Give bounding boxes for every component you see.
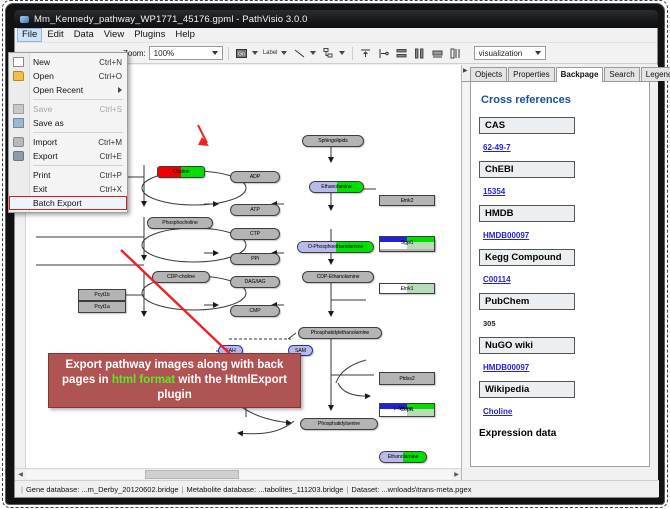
xref-value-kegg-compound[interactable]: C00114 [483,275,511,284]
file-menu-label: Batch Export [33,198,122,208]
title-bar[interactable]: Mm_Kennedy_pathway_WP1771_45176.gpml - P… [14,10,658,28]
tabstrip-scroll-icon[interactable]: ▶ [463,67,468,74]
metabolite-node-cmp[interactable]: CMP [230,305,280,317]
callout-text-after: with the HtmlExport plugin [157,374,287,401]
file-menu-item-batch-export[interactable]: Batch Export [9,196,127,210]
xref-value-row: 15354 [479,181,641,205]
metabolite-node-phosphatidylserine[interactable]: Phosphatidylserine [300,418,378,430]
file-menu-label: Print [33,170,100,180]
status-dataset: Dataset: ...wnloads\trans-meta.pgex [351,485,471,494]
status-gene-database: Gene database: ...m_Derby_20120602.bridg… [26,485,179,494]
node-label: DAG/IAG [245,279,266,285]
file-menu-dropdown[interactable]: NewCtrl+NOpenCtrl+OOpen RecentSaveCtrl+S… [8,52,128,213]
file-menu-accelerator: Ctrl+S [100,105,122,114]
gene-node-etnk1[interactable]: Etnk1 [379,283,435,294]
file-menu-item-save-as[interactable]: Save as [9,116,127,130]
cross-references-title: Cross references [481,94,641,106]
node-label: Ethanolamine [388,454,419,460]
callout-text-highlight: html format [112,374,175,386]
node-label: Etnk2 [401,198,414,204]
node-label: Phosphatidylserine [318,421,360,427]
status-sep-1: | [182,485,184,494]
file-menu-label: Open Recent [33,85,118,95]
xref-value-row: 305 [479,313,641,337]
metabolite-node-o-phosphoethanolamine[interactable]: O-Phosphoethanolamine [297,241,374,253]
xref-value-pubchem: 305 [483,319,496,328]
status-metabolite-database: Metabolite database: ...tabolites_111203… [187,485,344,494]
metabolite-node-choline[interactable]: Choline [157,166,205,178]
file-menu-item-export[interactable]: ExportCtrl+E [9,149,127,163]
file-menu-label: Open [33,71,99,81]
tab-search[interactable]: Search [604,67,639,81]
file-menu-label: Exit [33,184,100,194]
datanode-tool-icon[interactable]: Gn [234,46,249,61]
file-menu-item-open[interactable]: OpenCtrl+O [9,69,127,83]
xref-db-pubchem: PubChem [479,293,575,310]
metabolite-node-dag-iag[interactable]: DAG/IAG [230,276,280,288]
node-label: O-Phosphoethanolamine [308,244,363,250]
common-width-icon[interactable] [430,46,445,61]
metabolite-node-phosphocholine[interactable]: Phosphocholine [147,217,213,229]
xref-db-nugo-wiki: NuGO wiki [479,337,575,354]
cross-reference-list: CAS62-49-7ChEBI15354HMDBHMDB00097Kegg Co… [479,117,641,425]
side-panel-scrollbar[interactable] [463,82,470,467]
common-height-icon[interactable] [448,46,463,61]
interaction-tool-icon[interactable] [321,46,336,61]
gene-node-etnk2[interactable]: Etnk2 [379,195,435,206]
side-panel: ▶ Objects Properties Backpage Search Leg… [462,65,658,480]
xref-db-chebi: ChEBI [479,161,575,178]
file-menu-accelerator: Ctrl+X [100,185,122,194]
xref-db-cas: CAS [479,117,575,134]
stack-horizontal-icon[interactable] [412,46,427,61]
tab-objects[interactable]: Objects [470,67,507,81]
svg-text:Gn: Gn [238,51,245,57]
file-menu-item-exit[interactable]: ExitCtrl+X [9,182,127,196]
file-menu-item-open-recent[interactable]: Open Recent [9,83,127,97]
node-label: Choline [173,169,190,175]
node-label: Ptdss2 [399,376,414,382]
file-menu-label: Save as [33,118,122,128]
node-label: CTP [250,231,260,237]
scroll-right-icon[interactable]: ▶ [451,469,462,480]
xref-value-nugo-wiki[interactable]: HMDB00097 [483,363,529,372]
status-sep-0: | [21,485,23,494]
align-top-icon[interactable] [358,46,373,61]
file-menu-label: Import [33,137,98,147]
node-label: CDP-Ethanolamine [317,274,360,280]
node-label: Pcyt1a [94,304,109,310]
visualization-value: visualization [479,49,529,58]
expression-data-title: Expression data [479,428,641,439]
file-menu-item-import[interactable]: ImportCtrl+M [9,135,127,149]
chevron-down-icon [212,51,218,55]
tab-backpage[interactable]: Backpage [556,67,604,82]
metabolite-node-ppi[interactable]: PPi [230,253,280,265]
node-label: Sgpl1 [401,240,414,246]
menu-bar: File Edit Data View Plugins Help [15,28,657,43]
import-icon [13,137,24,147]
file-menu-accelerator: Ctrl+E [100,152,122,161]
zoom-value: 100% [154,49,206,58]
xref-db-kegg-compound: Kegg Compound [479,249,575,266]
xref-db-hmdb: HMDB [479,205,575,222]
file-menu-separator [33,132,123,133]
file-menu-item-save: SaveCtrl+S [9,102,127,116]
datanode-dropdown-icon[interactable] [252,51,258,55]
xref-value-row: HMDB00097 [479,357,641,381]
node-label: CDP-choline [167,274,195,280]
annotation-callout: Export pathway images along with back pa… [48,353,301,408]
file-menu-label: Export [33,151,100,161]
zoom-combobox[interactable]: 100% [149,46,223,60]
export-icon [13,151,24,161]
file-menu-accelerator: Ctrl+N [99,58,122,67]
side-panel-tabstrip: ▶ Objects Properties Backpage Search Leg… [462,65,658,82]
toolbar-separator [228,47,229,60]
canvas-horizontal-scrollbar[interactable]: ◀ ▶ [15,468,462,480]
file-menu-accelerator: Ctrl+P [100,171,122,180]
metabolite-node-cdp-ethanolamine[interactable]: CDP-Ethanolamine [302,271,374,283]
file-menu-item-new[interactable]: NewCtrl+N [9,55,127,69]
status-bar: | Gene database: ...m_Derby_20120602.bri… [15,480,659,497]
metabolite-node-phosphatidylethanolamine[interactable]: Phosphatidylethanolamine [298,327,382,339]
node-label: ADP [250,174,260,180]
menu-edit[interactable]: Edit [42,28,68,42]
backpage-content: Cross references CAS62-49-7ChEBI15354HMD… [470,82,650,467]
file-menu-separator [33,99,123,100]
xref-value-row: Choline [479,401,641,425]
tab-properties[interactable]: Properties [508,67,554,81]
xref-value-cas[interactable]: 62-49-7 [483,143,511,152]
line-dropdown-icon[interactable] [310,51,316,55]
save-as-icon [13,118,24,128]
file-menu-label: Save [33,104,100,114]
metabolite-node-ethanolamine[interactable]: Ethanolamine [309,181,364,193]
scroll-left-icon[interactable]: ◀ [15,469,26,480]
status-sep-2: | [346,485,348,494]
node-label: CMP [249,308,260,314]
metabolite-node-cdp-choline[interactable]: CDP-choline [152,271,210,283]
screenshot-root: Mm_Kennedy_pathway_WP1771_45176.gpml - P… [0,0,670,509]
node-label: Cept1 [400,407,413,413]
node-label: Etnk1 [401,286,414,292]
node-label: Phosphatidylethanolamine [311,330,369,336]
xref-value-row: 62-49-7 [479,137,641,161]
metabolite-node-ethanolamine[interactable]: Ethanolamine [379,451,427,463]
node-label: Phosphocholine [162,220,198,226]
metabolite-node-atp[interactable]: ATP [230,204,280,216]
menu-view[interactable]: View [99,28,129,42]
tab-legend[interactable]: Legend [641,67,670,81]
callout-text: Export pathway images along with back pa… [49,358,300,403]
node-label: PPi [251,256,259,262]
node-label: ATP [250,207,259,213]
file-menu-separator [33,165,123,166]
xref-value-row: C00114 [479,269,641,293]
node-label: Ethanolamine [321,184,352,190]
xref-value-wikipedia[interactable]: Choline [483,407,512,416]
scroll-thumb[interactable] [145,470,239,479]
label-dropdown-icon[interactable] [281,51,287,55]
save-disk-icon [13,104,24,114]
gene-node-pcyt1b[interactable]: Pcyt1b [78,289,126,301]
pathvisio-app-icon [19,14,30,25]
file-menu-accelerator: Ctrl+M [98,138,122,147]
xref-value-hmdb[interactable]: HMDB00097 [483,231,529,240]
metabolite-node-ctp[interactable]: CTP [230,228,280,240]
file-menu-accelerator: Ctrl+O [99,72,122,81]
xref-value-chebi[interactable]: 15354 [483,187,505,196]
line-tool-icon[interactable] [292,46,307,61]
metabolite-node-sphingolipids[interactable]: Sphingolipids [302,135,364,147]
toolbar-separator-2 [352,47,353,60]
open-folder-icon [13,71,24,81]
xref-db-wikipedia: Wikipedia [479,381,575,398]
visualization-combobox[interactable]: visualization [474,46,546,60]
new-document-icon [13,57,24,67]
node-label: Sphingolipids [318,138,348,144]
gene-node-ptdss2[interactable]: Ptdss2 [379,372,435,385]
xref-value-row: HMDB00097 [479,225,641,249]
chevron-down-icon-2 [535,51,541,55]
metabolite-node-adp[interactable]: ADP [230,171,280,183]
file-menu-label: New [33,57,99,67]
scroll-track[interactable] [26,470,451,479]
gene-node-pcyt1a[interactable]: Pcyt1a [78,301,126,313]
align-left-icon[interactable] [376,46,391,61]
label-tool-icon[interactable]: Label [263,46,278,61]
menu-file[interactable]: File [17,28,42,42]
menu-help[interactable]: Help [170,28,200,42]
menu-plugins[interactable]: Plugins [129,28,170,42]
submenu-arrow-icon [118,87,122,93]
stack-vertical-icon[interactable] [394,46,409,61]
node-label: Pcyt1b [94,292,109,298]
menu-data[interactable]: Data [69,28,99,42]
gene-node-sgpl1[interactable]: Sgpl1 [379,236,435,250]
interaction-dropdown-icon[interactable] [339,51,345,55]
file-menu-item-print[interactable]: PrintCtrl+P [9,168,127,182]
window-title: Mm_Kennedy_pathway_WP1771_45176.gpml - P… [34,14,308,25]
